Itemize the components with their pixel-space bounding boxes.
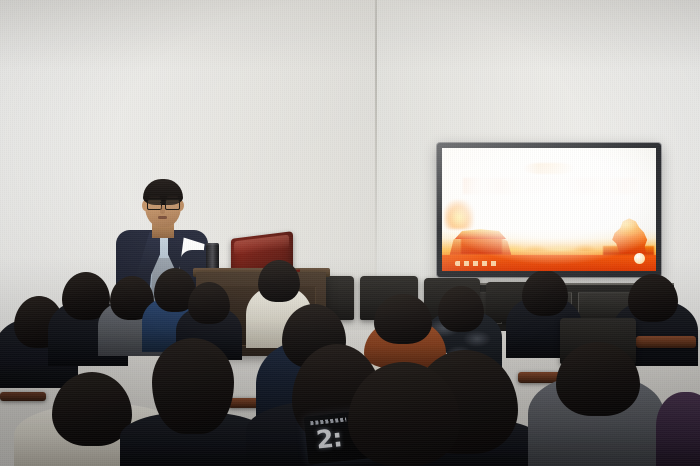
ribbon-banner-icon [523, 163, 574, 174]
gate-wall-shape [461, 238, 502, 254]
slide-landscape-motif [498, 240, 609, 251]
lecture-hall-photo: 2: [0, 0, 700, 466]
light-flare [444, 200, 474, 230]
slide-badge-icon [634, 253, 645, 264]
slide-title-text [463, 178, 639, 194]
slide-page-dots [455, 261, 500, 266]
